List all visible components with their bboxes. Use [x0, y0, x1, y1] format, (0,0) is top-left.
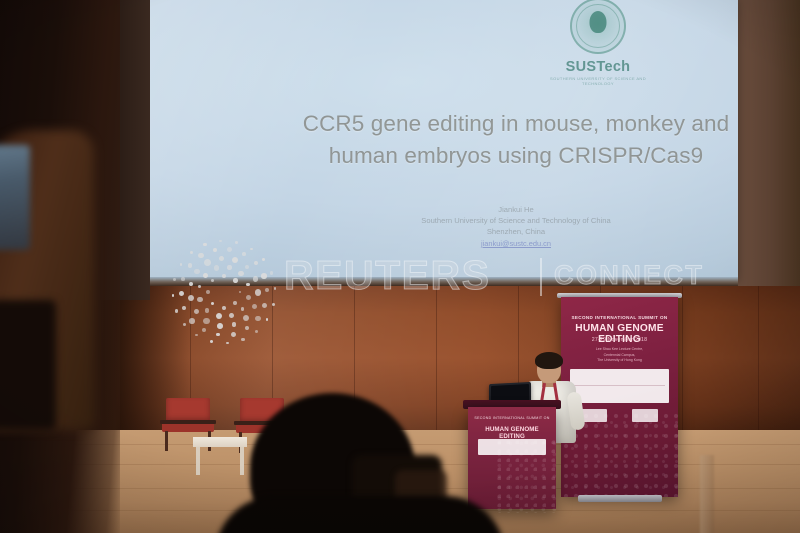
- slide-title-line2: human embryos using CRISPR/Cas9: [246, 140, 786, 172]
- slide-byline: Jiankui He Southern University of Scienc…: [276, 204, 756, 237]
- banner-base-stand: [578, 495, 662, 502]
- foreground-dark-mass: [0, 300, 56, 430]
- sustech-subtext: SOUTHERN UNIVERSITY OF SCIENCE AND TECHN…: [538, 76, 658, 86]
- banner-venue: Lee Shau Kee Lecture Centre, Centennial …: [573, 347, 666, 364]
- sponsor-logo-chip: [632, 409, 658, 422]
- podium-logo-strip: [478, 439, 546, 455]
- watermark-separator: [540, 258, 542, 296]
- reuters-connect-watermark: REUTERS CONNECT: [168, 236, 638, 314]
- podium-title: HUMAN GENOME EDITING: [474, 426, 550, 440]
- banner-venue-line3: The University of Hong Kong: [573, 358, 666, 364]
- slide-title: CCR5 gene editing in mouse, monkey and h…: [246, 108, 786, 172]
- podium: SECOND INTERNATIONAL SUMMIT ON HUMAN GEN…: [468, 407, 556, 509]
- sponsor-logo-chip: [581, 409, 607, 422]
- banner-eyebrow: SECOND INTERNATIONAL SUMMIT ON: [568, 315, 671, 320]
- slide-author-name: Jiankui He: [276, 204, 756, 215]
- sustech-seal-emblem-icon: [570, 0, 626, 54]
- foreground-stand-pole: [700, 455, 714, 533]
- slide-affiliation: Southern University of Science and Techn…: [276, 215, 756, 226]
- photo-canvas: SUSTech SOUTHERN UNIVERSITY OF SCIENCE A…: [0, 0, 800, 533]
- banner-dates: 27-29 November 2018: [568, 337, 671, 343]
- podium-eyebrow: SECOND INTERNATIONAL SUMMIT ON: [474, 416, 550, 421]
- watermark-product: CONNECT: [554, 260, 704, 291]
- slide-title-line1: CCR5 gene editing in mouse, monkey and: [246, 108, 786, 140]
- sustech-wordmark: SUSTech: [538, 59, 658, 75]
- banner-organizer-logos: [570, 369, 669, 403]
- watermark-brand: REUTERS: [284, 252, 490, 299]
- foreground-shoulders: [215, 496, 505, 533]
- foreground-phone-screen: [0, 145, 30, 250]
- sustech-logo: SUSTech SOUTHERN UNIVERSITY OF SCIENCE A…: [538, 0, 658, 86]
- reuters-dot-logo-icon: [168, 236, 280, 348]
- side-table: [193, 437, 247, 447]
